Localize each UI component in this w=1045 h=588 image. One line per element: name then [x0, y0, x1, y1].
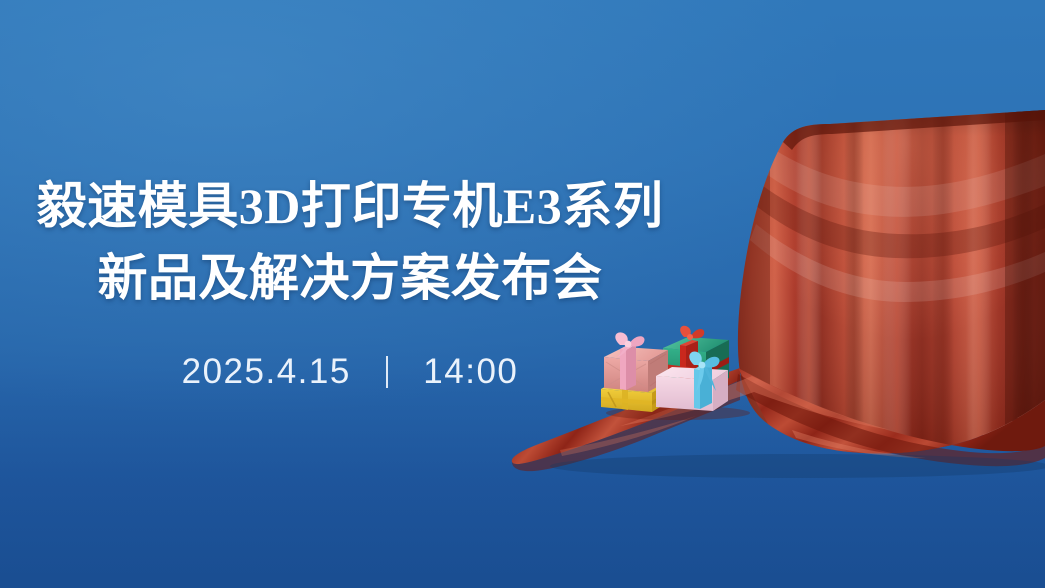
event-announcement-banner: 毅速模具3D打印专机E3系列 新品及解决方案发布会 2025.4.15 14:0…	[0, 0, 1045, 588]
headline-line-2: 新品及解决方案发布会	[0, 242, 700, 314]
headline-line-1: 毅速模具3D打印专机E3系列	[0, 170, 700, 242]
event-date: 2025.4.15	[182, 352, 351, 391]
event-datetime: 2025.4.15 14:00	[0, 352, 700, 392]
datetime-separator	[386, 356, 388, 388]
headline-block: 毅速模具3D打印专机E3系列 新品及解决方案发布会 2025.4.15 14:0…	[0, 170, 700, 392]
event-time: 14:00	[423, 352, 518, 391]
